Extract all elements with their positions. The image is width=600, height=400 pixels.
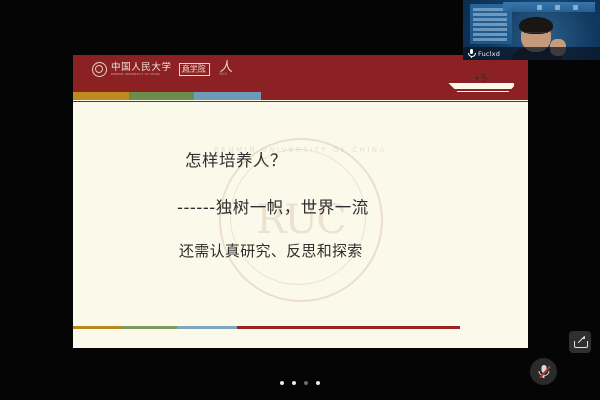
accent-band-top	[73, 92, 528, 100]
university-seal-icon	[92, 62, 107, 77]
accent-segment-blue	[194, 92, 262, 100]
pagination-dot-1[interactable]	[280, 381, 284, 385]
microphone-muted-icon	[538, 365, 549, 379]
header-rule-bottom	[73, 101, 528, 103]
bottom-segment-gold	[73, 326, 121, 329]
bottom-segment-green	[121, 326, 177, 329]
minimize-restore-icon	[574, 336, 586, 348]
logo-name-en: RENMIN UNIVERSITY OF CHINA	[111, 72, 172, 76]
pagination-dot-4[interactable]	[316, 381, 320, 385]
slide-header: 中国人民大学 RENMIN UNIVERSITY OF CHINA 商学院 BU…	[73, 55, 528, 92]
logo-text: 中国人民大学 RENMIN UNIVERSITY OF CHINA	[111, 63, 172, 77]
minimize-restore-button[interactable]	[569, 331, 591, 353]
bottom-segment-red	[237, 326, 460, 329]
video-background-toolbar	[503, 2, 595, 12]
screen-root: RENMIN UNIVERSITY OF CHINA RUC 中国人民大学 RE…	[0, 0, 600, 400]
logo-badge-en: BUSINESS SCHOOL	[182, 72, 207, 74]
logo-name-cn: 中国人民大学	[111, 63, 172, 73]
accent-segment-gold	[73, 92, 129, 100]
slide-line-2: ------独树一帜，世界一流	[177, 194, 369, 218]
accent-band-bottom	[73, 326, 528, 329]
slide-page-number: •5	[474, 72, 489, 85]
logo-mark: 人 RUC	[220, 63, 233, 76]
accent-segment-red	[261, 92, 528, 100]
pagination-dot-3[interactable]	[304, 381, 308, 385]
participant-name-bar: Fuclxd	[463, 47, 600, 60]
participant-name: Fuclxd	[478, 50, 500, 58]
pagination-dot-2[interactable]	[292, 381, 296, 385]
presentation-slide[interactable]: RENMIN UNIVERSITY OF CHINA RUC 中国人民大学 RE…	[73, 55, 528, 348]
slide-line-1: 怎样培养人？	[185, 147, 287, 171]
header-rule-top	[73, 89, 528, 91]
pagination-dots[interactable]	[0, 381, 600, 385]
logo-mark-glyph: 人	[219, 63, 233, 72]
participant-video-thumbnail[interactable]: Fuclxd	[463, 0, 600, 60]
bottom-segment-blue	[177, 326, 237, 329]
university-logo: 中国人民大学 RENMIN UNIVERSITY OF CHINA 商学院 BU…	[92, 62, 233, 77]
accent-segment-green	[129, 92, 194, 100]
slide-line-3: 还需认真研究、反思和探索	[179, 240, 363, 261]
microphone-icon	[468, 49, 475, 58]
logo-school-badge: 商学院 BUSINESS SCHOOL	[179, 63, 210, 77]
